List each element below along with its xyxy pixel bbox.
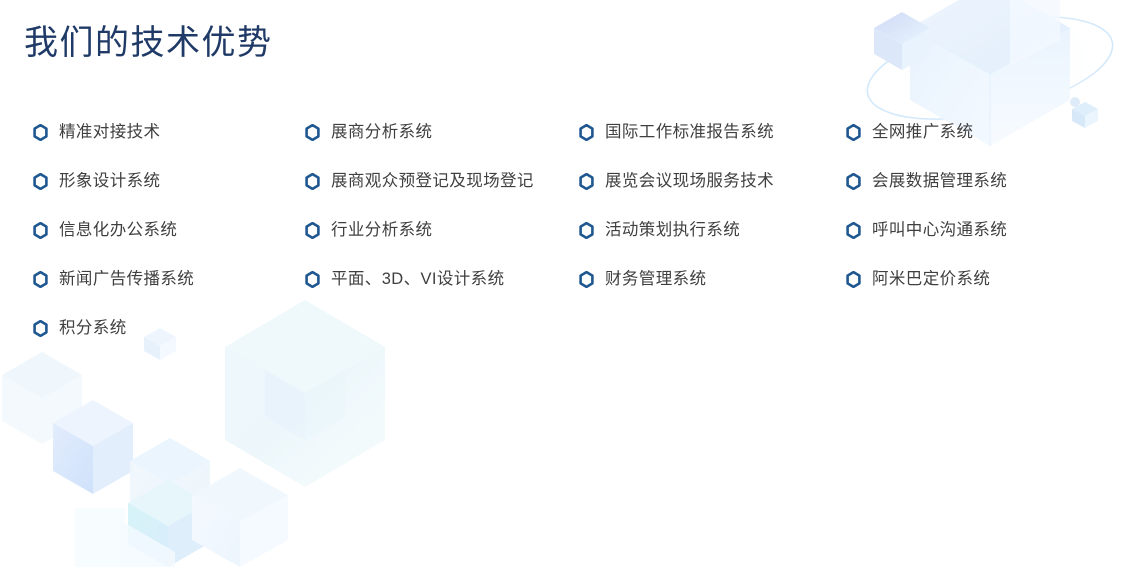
list-item-label: 会展数据管理系统 [872, 173, 1007, 190]
list-item-label: 财务管理系统 [605, 271, 706, 288]
hexagon-outline-icon [305, 124, 320, 141]
decor-cube-faint-right [192, 468, 288, 567]
hexagon-outline-icon [579, 124, 594, 141]
feature-column: 全网推广系统 会展数据管理系统 呼叫中心沟通系统 阿米巴定价系统 [812, 108, 1112, 304]
hexagon-outline-icon [33, 320, 48, 337]
hexagon-outline-icon [305, 222, 320, 239]
list-item[interactable]: 国际工作标准报告系统 [579, 108, 812, 157]
hexagon-outline-icon [33, 124, 48, 141]
list-item[interactable]: 展览会议现场服务技术 [579, 157, 812, 206]
feature-column: 展商分析系统 展商观众预登记及现场登记 行业分析系统 平面、3D、VI设计系统 [272, 108, 544, 304]
hexagon-outline-icon [579, 222, 594, 239]
list-item[interactable]: 全网推广系统 [846, 108, 1112, 157]
list-item[interactable]: 积分系统 [33, 304, 272, 353]
list-item[interactable]: 平面、3D、VI设计系统 [305, 255, 544, 304]
list-item-label: 行业分析系统 [331, 222, 432, 239]
list-item-label: 活动策划执行系统 [605, 222, 740, 239]
feature-column: 国际工作标准报告系统 展览会议现场服务技术 活动策划执行系统 财务管理系统 [544, 108, 812, 304]
decor-hex-center-cluster [130, 438, 210, 530]
decor-cube-cyan [128, 480, 208, 567]
list-item-label: 新闻广告传播系统 [59, 271, 194, 288]
list-item[interactable]: 形象设计系统 [33, 157, 272, 206]
slide-canvas: 我们的技术优势 精准对接技术 形象设计系统 信息化办公系统 [0, 0, 1141, 567]
list-item-label: 呼叫中心沟通系统 [872, 222, 1007, 239]
list-item-label: 国际工作标准报告系统 [605, 124, 774, 141]
list-item[interactable]: 呼叫中心沟通系统 [846, 206, 1112, 255]
list-item[interactable]: 新闻广告传播系统 [33, 255, 272, 304]
hexagon-outline-icon [846, 222, 861, 239]
hexagon-outline-icon [579, 271, 594, 288]
feature-column: 精准对接技术 形象设计系统 信息化办公系统 新闻广告传播系统 [0, 108, 272, 353]
hexagon-outline-icon [33, 173, 48, 190]
list-item-label: 形象设计系统 [59, 173, 160, 190]
list-item[interactable]: 阿米巴定价系统 [846, 255, 1112, 304]
list-item[interactable]: 展商分析系统 [305, 108, 544, 157]
hexagon-outline-icon [33, 222, 48, 239]
list-item-label: 阿米巴定价系统 [872, 271, 990, 288]
list-item-label: 积分系统 [59, 320, 127, 337]
feature-columns: 精准对接技术 形象设计系统 信息化办公系统 新闻广告传播系统 [0, 108, 1141, 353]
decor-cube-blue-mid [53, 400, 133, 494]
hexagon-outline-icon [305, 271, 320, 288]
hexagon-outline-icon [846, 173, 861, 190]
hexagon-outline-icon [579, 173, 594, 190]
list-item[interactable]: 精准对接技术 [33, 108, 272, 157]
hexagon-outline-icon [846, 124, 861, 141]
list-item-label: 全网推广系统 [872, 124, 973, 141]
list-item-label: 展商分析系统 [331, 124, 432, 141]
list-item[interactable]: 财务管理系统 [579, 255, 812, 304]
list-item[interactable]: 活动策划执行系统 [579, 206, 812, 255]
list-item[interactable]: 行业分析系统 [305, 206, 544, 255]
hexagon-outline-icon [33, 271, 48, 288]
list-item-label: 展览会议现场服务技术 [605, 173, 774, 190]
hexagon-outline-icon [846, 271, 861, 288]
list-item[interactable]: 展商观众预登记及现场登记 [305, 157, 544, 206]
list-item-label: 平面、3D、VI设计系统 [331, 271, 504, 288]
list-item[interactable]: 信息化办公系统 [33, 206, 272, 255]
decor-small-cube-upper [874, 12, 930, 70]
list-item-label: 精准对接技术 [59, 124, 160, 141]
page-title: 我们的技术优势 [24, 22, 273, 65]
list-item[interactable]: 会展数据管理系统 [846, 157, 1112, 206]
hexagon-outline-icon [305, 173, 320, 190]
list-item-label: 展商观众预登记及现场登记 [331, 173, 534, 190]
decor-hex-faint-upper [2, 352, 82, 444]
list-item-label: 信息化办公系统 [59, 222, 177, 239]
